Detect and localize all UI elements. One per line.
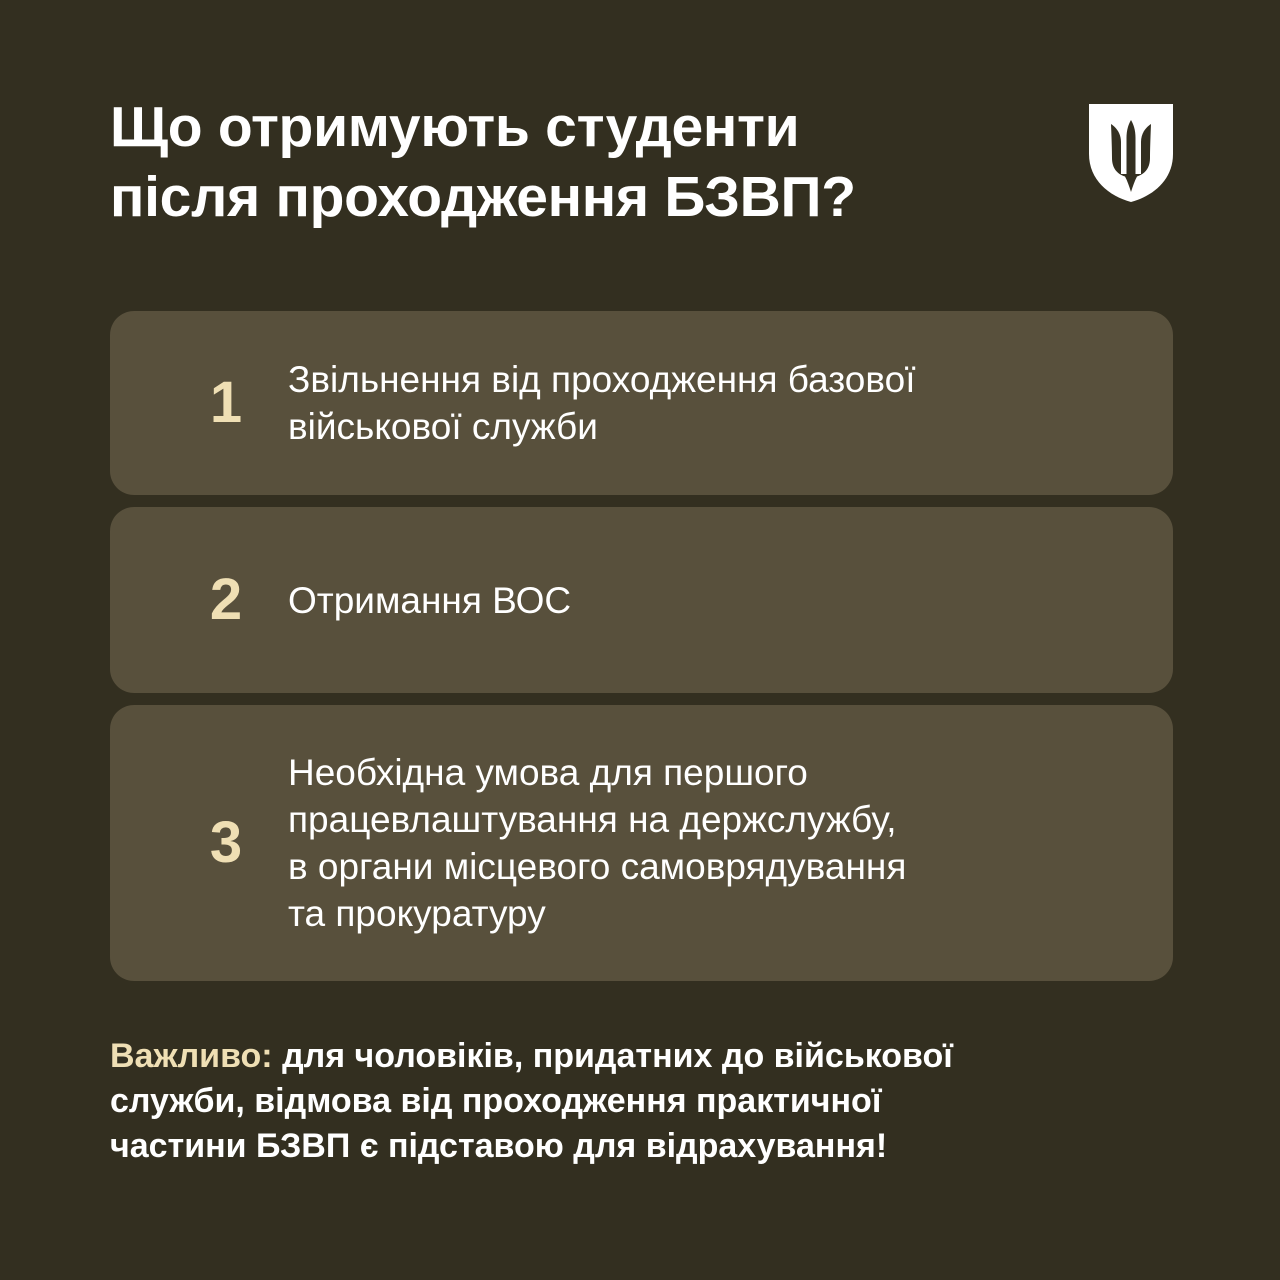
- benefit-card-2-text: Отримання ВОС: [280, 577, 1133, 624]
- benefit-card-1: 1 Звільнення від проходження базової вій…: [110, 311, 1173, 495]
- important-note: Важливо: для чоловіків, придатних до вій…: [110, 1034, 1120, 1169]
- benefit-card-3-text: Необхідна умова для першого працевлаштув…: [280, 749, 1133, 937]
- ukrainian-armed-forces-shield-trident-emblem-icon: [1087, 102, 1175, 204]
- benefit-card-2: 2 Отримання ВОС: [110, 507, 1173, 693]
- benefit-card-3-number: 3: [110, 814, 280, 872]
- benefits-card-list: 1 Звільнення від проходження базової вій…: [110, 311, 1173, 981]
- important-note-label: Важливо:: [110, 1037, 273, 1075]
- page-title: Що отримують студенти після проходження …: [110, 92, 856, 232]
- benefit-card-3: 3 Необхідна умова для першого працевлашт…: [110, 705, 1173, 981]
- benefit-card-1-text: Звільнення від проходження базової війсь…: [280, 356, 1133, 450]
- infographic-poster: Що отримують студенти після проходження …: [0, 0, 1280, 1280]
- poster-header: Що отримують студенти після проходження …: [110, 92, 1175, 232]
- benefit-card-1-number: 1: [110, 374, 280, 432]
- benefit-card-2-number: 2: [110, 571, 280, 629]
